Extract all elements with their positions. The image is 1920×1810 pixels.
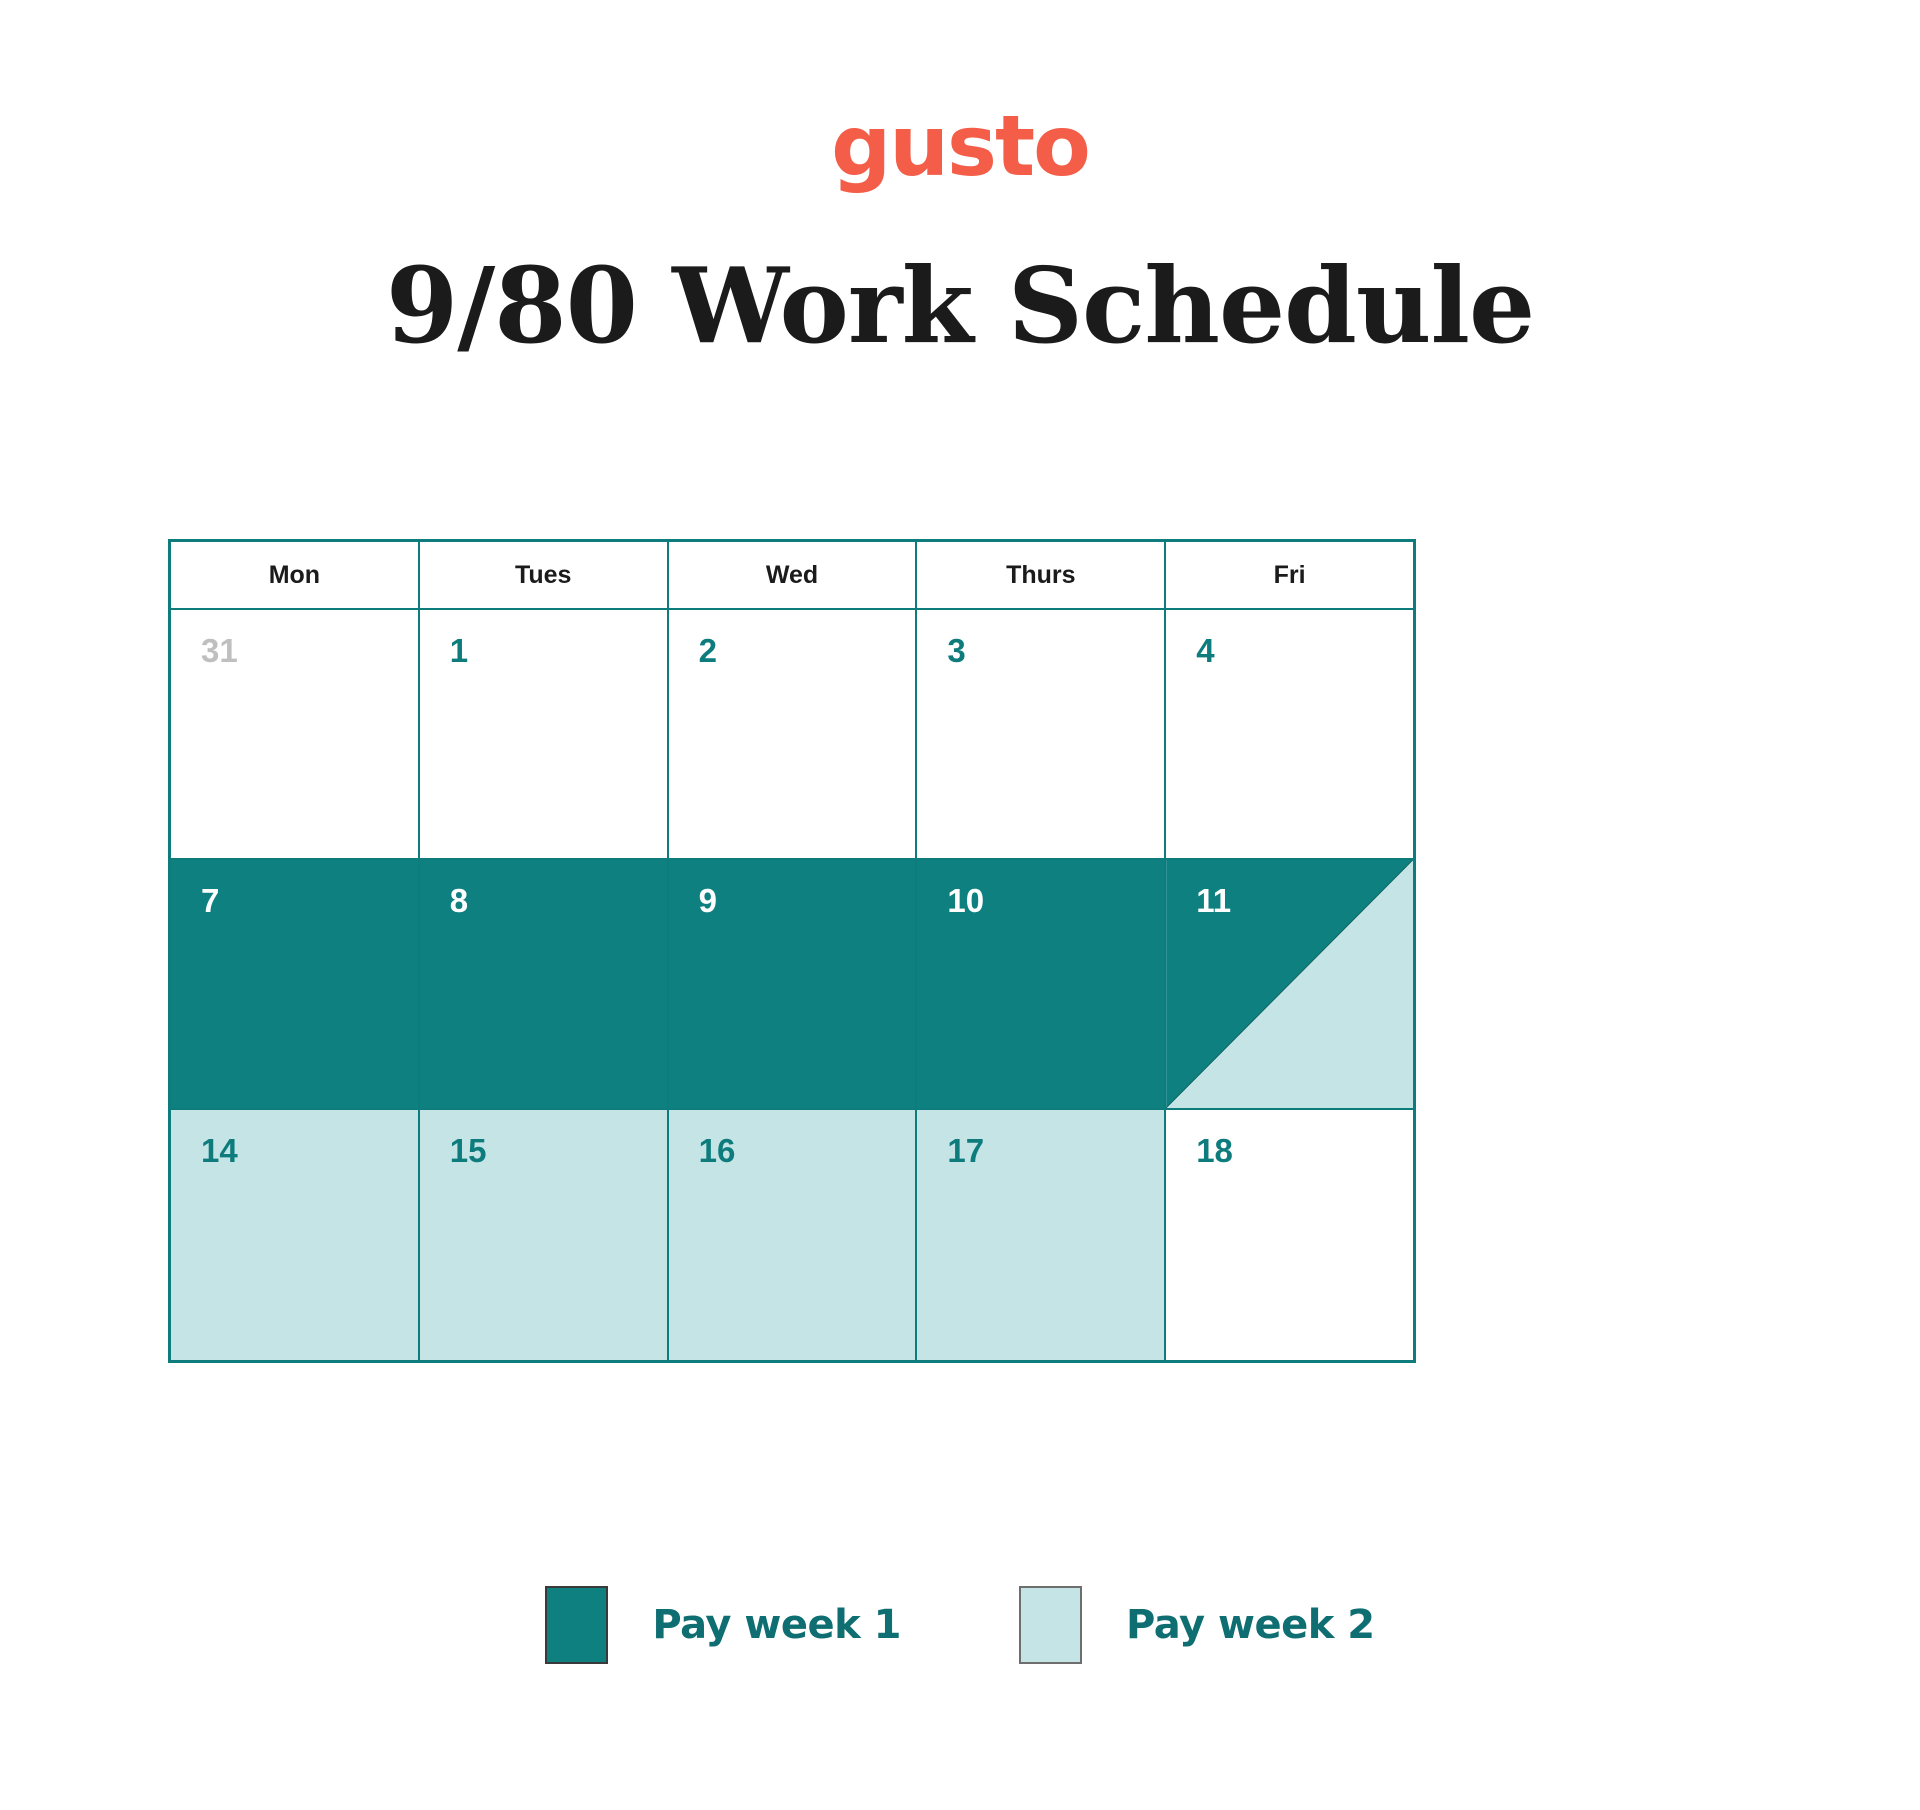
weekday-header-thurs: Thurs bbox=[917, 542, 1166, 608]
calendar-week-row: 31 1 2 3 4 bbox=[171, 610, 1413, 860]
day-number: 11 bbox=[1196, 884, 1231, 917]
legend-label: Pay week 2 bbox=[1126, 1602, 1375, 1648]
legend: Pay week 1 Pay week 2 bbox=[0, 1586, 1920, 1664]
page-title-wrap: 9/80 Work Schedule bbox=[0, 250, 1920, 362]
day-number: 14 bbox=[201, 1134, 238, 1167]
gusto-logo-text: gusto bbox=[831, 104, 1089, 188]
day-number: 3 bbox=[947, 634, 965, 667]
day-number: 17 bbox=[947, 1134, 984, 1167]
calendar-day-cell: 8 bbox=[420, 860, 669, 1108]
calendar-day-cell: 3 bbox=[917, 610, 1166, 858]
weekday-header-tues: Tues bbox=[420, 542, 669, 608]
calendar-day-cell-split: 11 bbox=[1166, 860, 1413, 1108]
day-number: 1 bbox=[450, 634, 468, 667]
schedule-infographic: gusto 9/80 Work Schedule Mon Tues Wed Th… bbox=[0, 0, 1920, 1810]
calendar-day-cell: 17 bbox=[917, 1110, 1166, 1360]
legend-item-pay-week-2: Pay week 2 bbox=[1019, 1586, 1375, 1664]
weekday-header-fri: Fri bbox=[1166, 542, 1413, 608]
calendar-day-cell: 16 bbox=[669, 1110, 918, 1360]
brand-logo: gusto bbox=[0, 104, 1920, 188]
day-number: 7 bbox=[201, 884, 219, 917]
calendar-header-row: Mon Tues Wed Thurs Fri bbox=[171, 542, 1413, 610]
weekday-header-mon: Mon bbox=[171, 542, 420, 608]
calendar-day-cell: 1 bbox=[420, 610, 669, 858]
calendar-day-cell: 15 bbox=[420, 1110, 669, 1360]
calendar-day-cell: 7 bbox=[171, 860, 420, 1108]
day-number: 31 bbox=[201, 634, 238, 667]
calendar-day-cell: 4 bbox=[1166, 610, 1413, 858]
weekday-header-wed: Wed bbox=[669, 542, 918, 608]
day-number: 4 bbox=[1196, 634, 1214, 667]
calendar-week-row: 14 15 16 17 18 bbox=[171, 1110, 1413, 1360]
day-number: 10 bbox=[947, 884, 984, 917]
day-number: 16 bbox=[699, 1134, 736, 1167]
day-number: 8 bbox=[450, 884, 468, 917]
page-title: 9/80 Work Schedule bbox=[386, 250, 1534, 362]
calendar-day-cell: 31 bbox=[171, 610, 420, 858]
calendar-day-cell: 2 bbox=[669, 610, 918, 858]
day-number: 9 bbox=[699, 884, 717, 917]
day-number: 2 bbox=[699, 634, 717, 667]
legend-swatch-week1 bbox=[545, 1586, 608, 1664]
legend-item-pay-week-1: Pay week 1 bbox=[545, 1586, 901, 1664]
legend-swatch-week2 bbox=[1019, 1586, 1082, 1664]
day-number: 18 bbox=[1196, 1134, 1233, 1167]
calendar-day-cell: 14 bbox=[171, 1110, 420, 1360]
calendar-day-cell: 10 bbox=[917, 860, 1166, 1108]
calendar-table: Mon Tues Wed Thurs Fri 31 1 2 3 4 bbox=[168, 539, 1416, 1363]
day-number: 15 bbox=[450, 1134, 487, 1167]
legend-label: Pay week 1 bbox=[652, 1602, 901, 1648]
calendar-day-cell: 18 bbox=[1166, 1110, 1413, 1360]
calendar-day-cell: 9 bbox=[669, 860, 918, 1108]
calendar-week-row: 7 8 9 10 11 bbox=[171, 860, 1413, 1110]
